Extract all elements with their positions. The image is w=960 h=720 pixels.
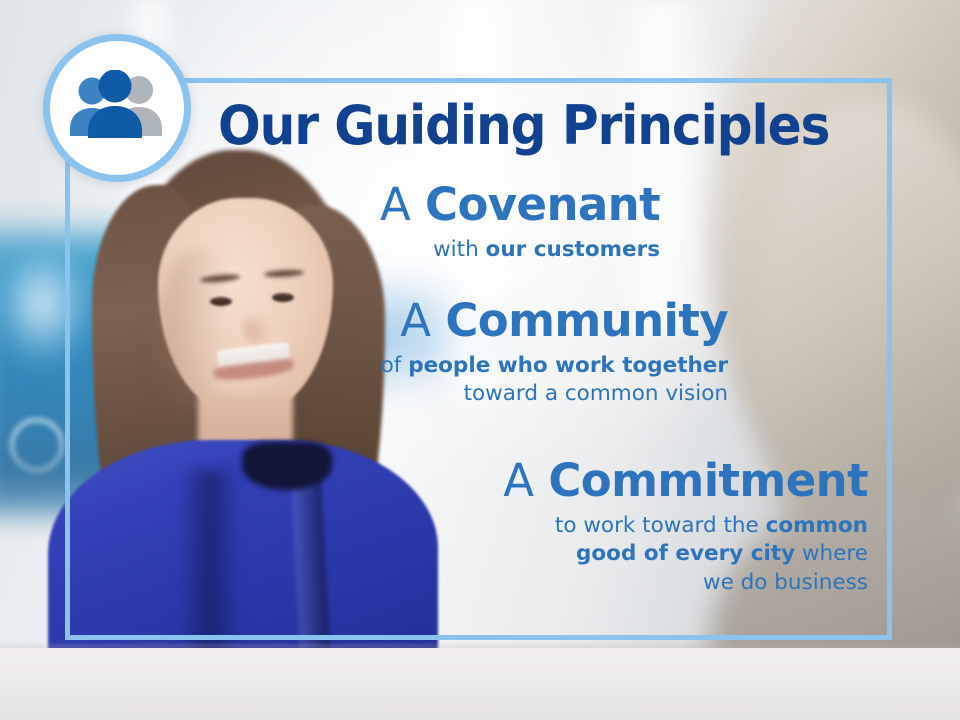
- principle-community-title: A Community: [381, 298, 728, 343]
- page-title: Our Guiding Principles: [218, 94, 829, 157]
- eye-left: [210, 297, 232, 306]
- principle-covenant-subtext: with our customers: [380, 236, 660, 264]
- eye-right: [272, 293, 294, 302]
- face-shadow: [158, 250, 228, 410]
- principle-commitment-subtext: to work toward the commongood of every c…: [503, 512, 868, 597]
- principle-community-word: Community: [445, 294, 728, 347]
- principle-covenant-title: A Covenant: [380, 182, 660, 227]
- principle-community-article: A: [400, 294, 431, 347]
- principle-commitment: A Commitment to work toward the commongo…: [503, 458, 868, 597]
- principle-commitment-word: Commitment: [548, 454, 868, 507]
- principle-covenant-word: Covenant: [425, 178, 660, 231]
- subtext-line: to work toward the common: [503, 512, 868, 540]
- principle-community: A Community of people who work togethert…: [381, 298, 728, 409]
- subtext-line: toward a common vision: [381, 380, 728, 408]
- desk-surface: [0, 648, 960, 720]
- subtext-line: with our customers: [380, 236, 660, 264]
- subtext-line: good of every city where: [503, 540, 868, 568]
- principle-commitment-title: A Commitment: [503, 458, 868, 503]
- principle-commitment-article: A: [503, 454, 534, 507]
- people-group-icon: [65, 70, 169, 146]
- guiding-principles-graphic: FLOW FLOW: [0, 0, 960, 720]
- subtext-line: of people who work together: [381, 352, 728, 380]
- principle-covenant-article: A: [380, 178, 411, 231]
- shirt-collar: [242, 442, 332, 490]
- subtext-line: we do business: [503, 569, 868, 597]
- principle-covenant: A Covenant with our customers: [380, 182, 660, 264]
- principle-community-subtext: of people who work togethertoward a comm…: [381, 352, 728, 409]
- people-group-badge: [43, 34, 191, 182]
